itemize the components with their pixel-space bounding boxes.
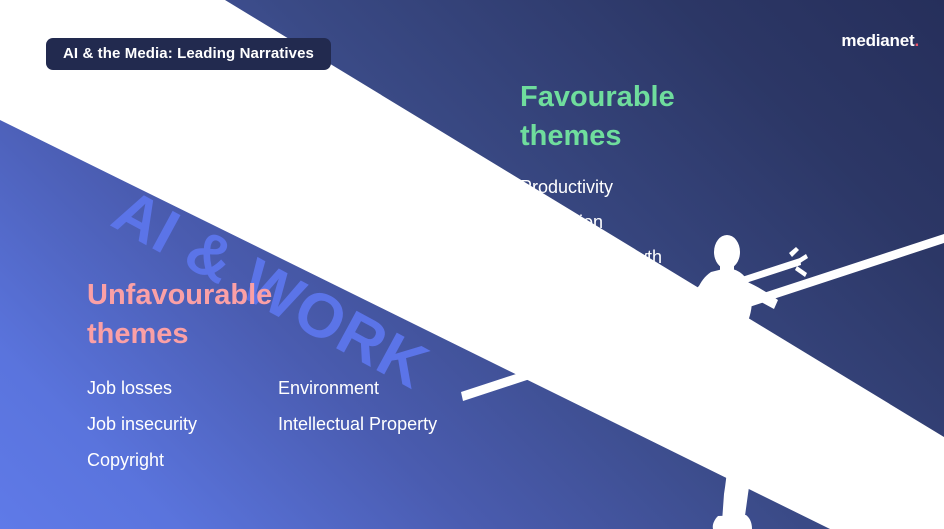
- list-item: Productivity: [520, 178, 675, 196]
- favourable-themes-list: Productivity Innovation Economic Growth: [520, 178, 675, 266]
- list-item: Economic Growth: [520, 248, 675, 266]
- favourable-themes-block: Favourable themes Productivity Innovatio…: [520, 78, 675, 283]
- list-item: Copyright: [87, 451, 278, 469]
- unfavourable-themes-block: Unfavourable themes Job losses Job insec…: [87, 276, 437, 487]
- title-badge: AI & the Media: Leading Narratives: [46, 38, 331, 70]
- logo-wordmark: medianet: [841, 31, 914, 50]
- unfavourable-themes-list-column-1: Job losses Job insecurity Copyright: [87, 379, 278, 487]
- brand-logo: medianet.: [841, 31, 919, 51]
- list-item: Environment: [278, 379, 437, 397]
- list-item: Intellectual Property: [278, 415, 437, 433]
- unfavourable-themes-columns: Job losses Job insecurity Copyright Envi…: [87, 379, 437, 487]
- list-item: Job losses: [87, 379, 278, 397]
- favourable-themes-heading: Favourable themes: [520, 78, 675, 156]
- logo-dot: .: [914, 31, 919, 50]
- unfavourable-themes-heading: Unfavourable themes: [87, 276, 437, 354]
- list-item: Job insecurity: [87, 415, 278, 433]
- unfavourable-themes-list-column-2: Environment Intellectual Property: [278, 379, 437, 487]
- list-item: Innovation: [520, 213, 675, 231]
- slide-canvas: AI & WORK AI & the Media: Leading Narrat…: [0, 0, 944, 529]
